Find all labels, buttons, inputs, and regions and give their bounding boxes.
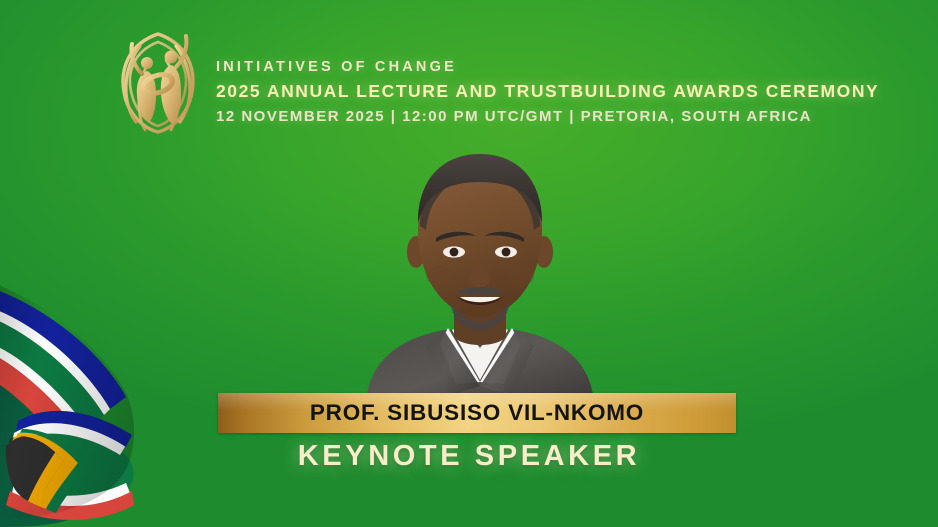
initiatives-of-change-logo-icon xyxy=(112,26,204,138)
speaker-portrait xyxy=(340,134,620,402)
south-africa-flag-ribbon-icon xyxy=(0,255,140,527)
header-text-block: INITIATIVES OF CHANGE 2025 ANNUAL LECTUR… xyxy=(216,36,879,128)
header: INITIATIVES OF CHANGE 2025 ANNUAL LECTUR… xyxy=(112,26,879,138)
event-poster: INITIATIVES OF CHANGE 2025 ANNUAL LECTUR… xyxy=(0,0,938,527)
event-title: 2025 ANNUAL LECTURE AND TRUSTBUILDING AW… xyxy=(216,78,879,104)
speaker-name-banner: PROF. SIBUSISO VIL-NKOMO xyxy=(218,393,736,433)
speaker-role-label: KEYNOTE SPEAKER xyxy=(0,440,938,473)
organization-name: INITIATIVES OF CHANGE xyxy=(216,56,879,78)
event-details: 12 NOVEMBER 2025 | 12:00 PM UTC/GMT | PR… xyxy=(216,105,879,128)
speaker-name: PROF. SIBUSISO VIL-NKOMO xyxy=(310,400,644,426)
